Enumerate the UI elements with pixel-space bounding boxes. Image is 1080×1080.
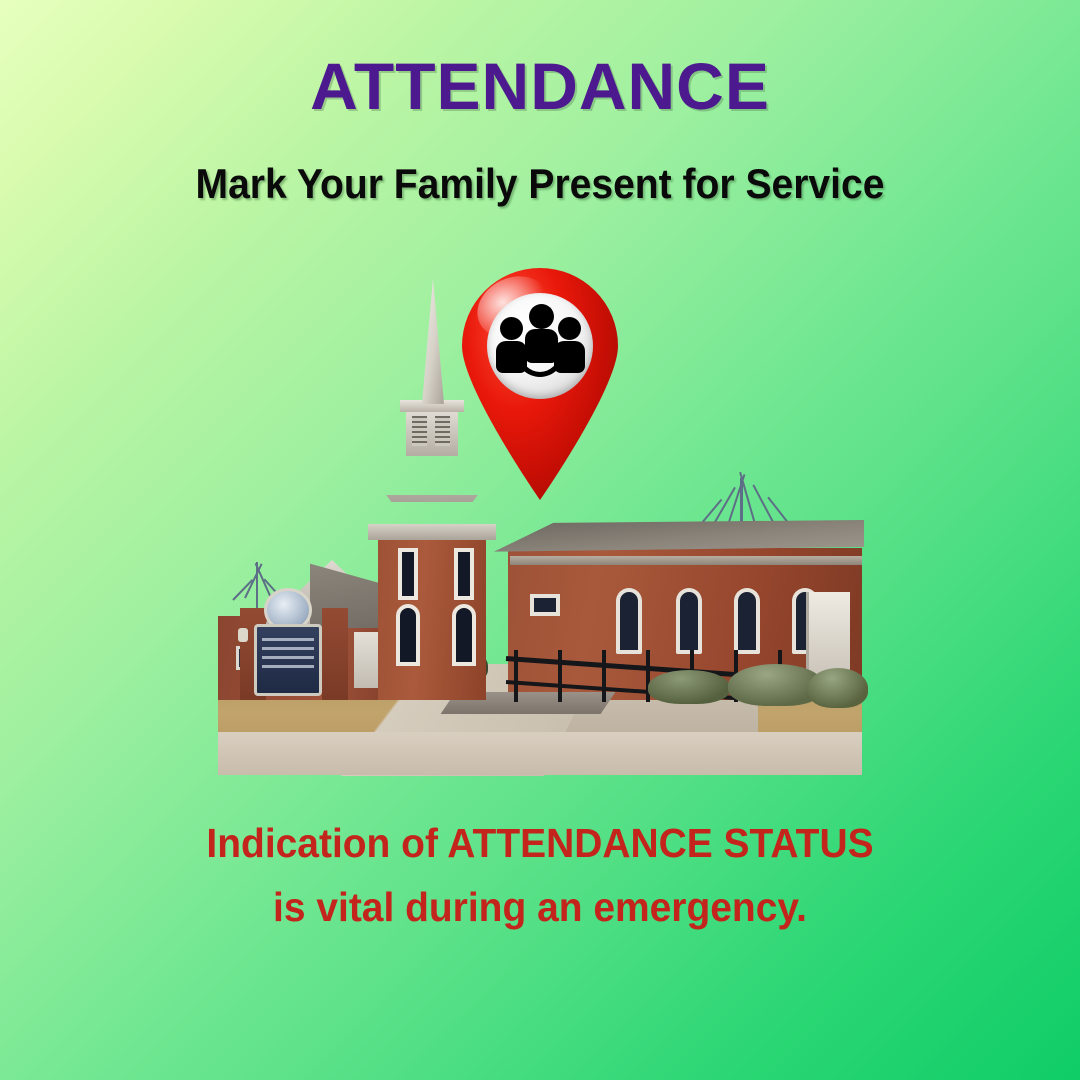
page-title: ATTENDANCE <box>0 48 1080 124</box>
belfry-louver <box>412 416 427 446</box>
tower-cap <box>368 524 496 540</box>
people-group-icon <box>500 317 523 340</box>
footer-line-1: Indication of ATTENDANCE STATUS <box>27 812 1053 876</box>
arched-window <box>734 588 760 654</box>
pin-face-circle <box>487 293 593 399</box>
people-group-icon <box>529 304 554 329</box>
side-door <box>354 632 380 688</box>
steeple-spire <box>422 278 444 404</box>
arched-window <box>676 588 702 654</box>
attendance-map-pin[interactable] <box>462 268 618 500</box>
tower-window <box>454 548 474 600</box>
square-window <box>530 594 560 616</box>
shrub <box>808 668 868 708</box>
footer-line-2: is vital during an emergency. <box>27 876 1053 940</box>
tower-window <box>398 548 418 600</box>
church-photo-scene <box>218 496 862 775</box>
footer-message: Indication of ATTENDANCE STATUS is vital… <box>0 812 1080 939</box>
tower-arched-window <box>452 604 476 666</box>
sign-post <box>322 608 348 700</box>
page-subtitle: Mark Your Family Present for Service <box>38 160 1042 208</box>
tower-arched-window <box>396 604 420 666</box>
arched-window <box>616 588 642 654</box>
smile-icon <box>516 351 564 377</box>
sign-text-lines <box>262 638 314 668</box>
belfry-louver <box>435 416 450 446</box>
church-photo <box>218 496 862 775</box>
roof-eave <box>510 556 862 565</box>
sanctuary-door <box>806 592 850 678</box>
sign-lamp-icon <box>238 628 248 642</box>
people-group-icon <box>558 317 581 340</box>
sidewalk <box>218 732 862 775</box>
shrub <box>648 670 730 704</box>
